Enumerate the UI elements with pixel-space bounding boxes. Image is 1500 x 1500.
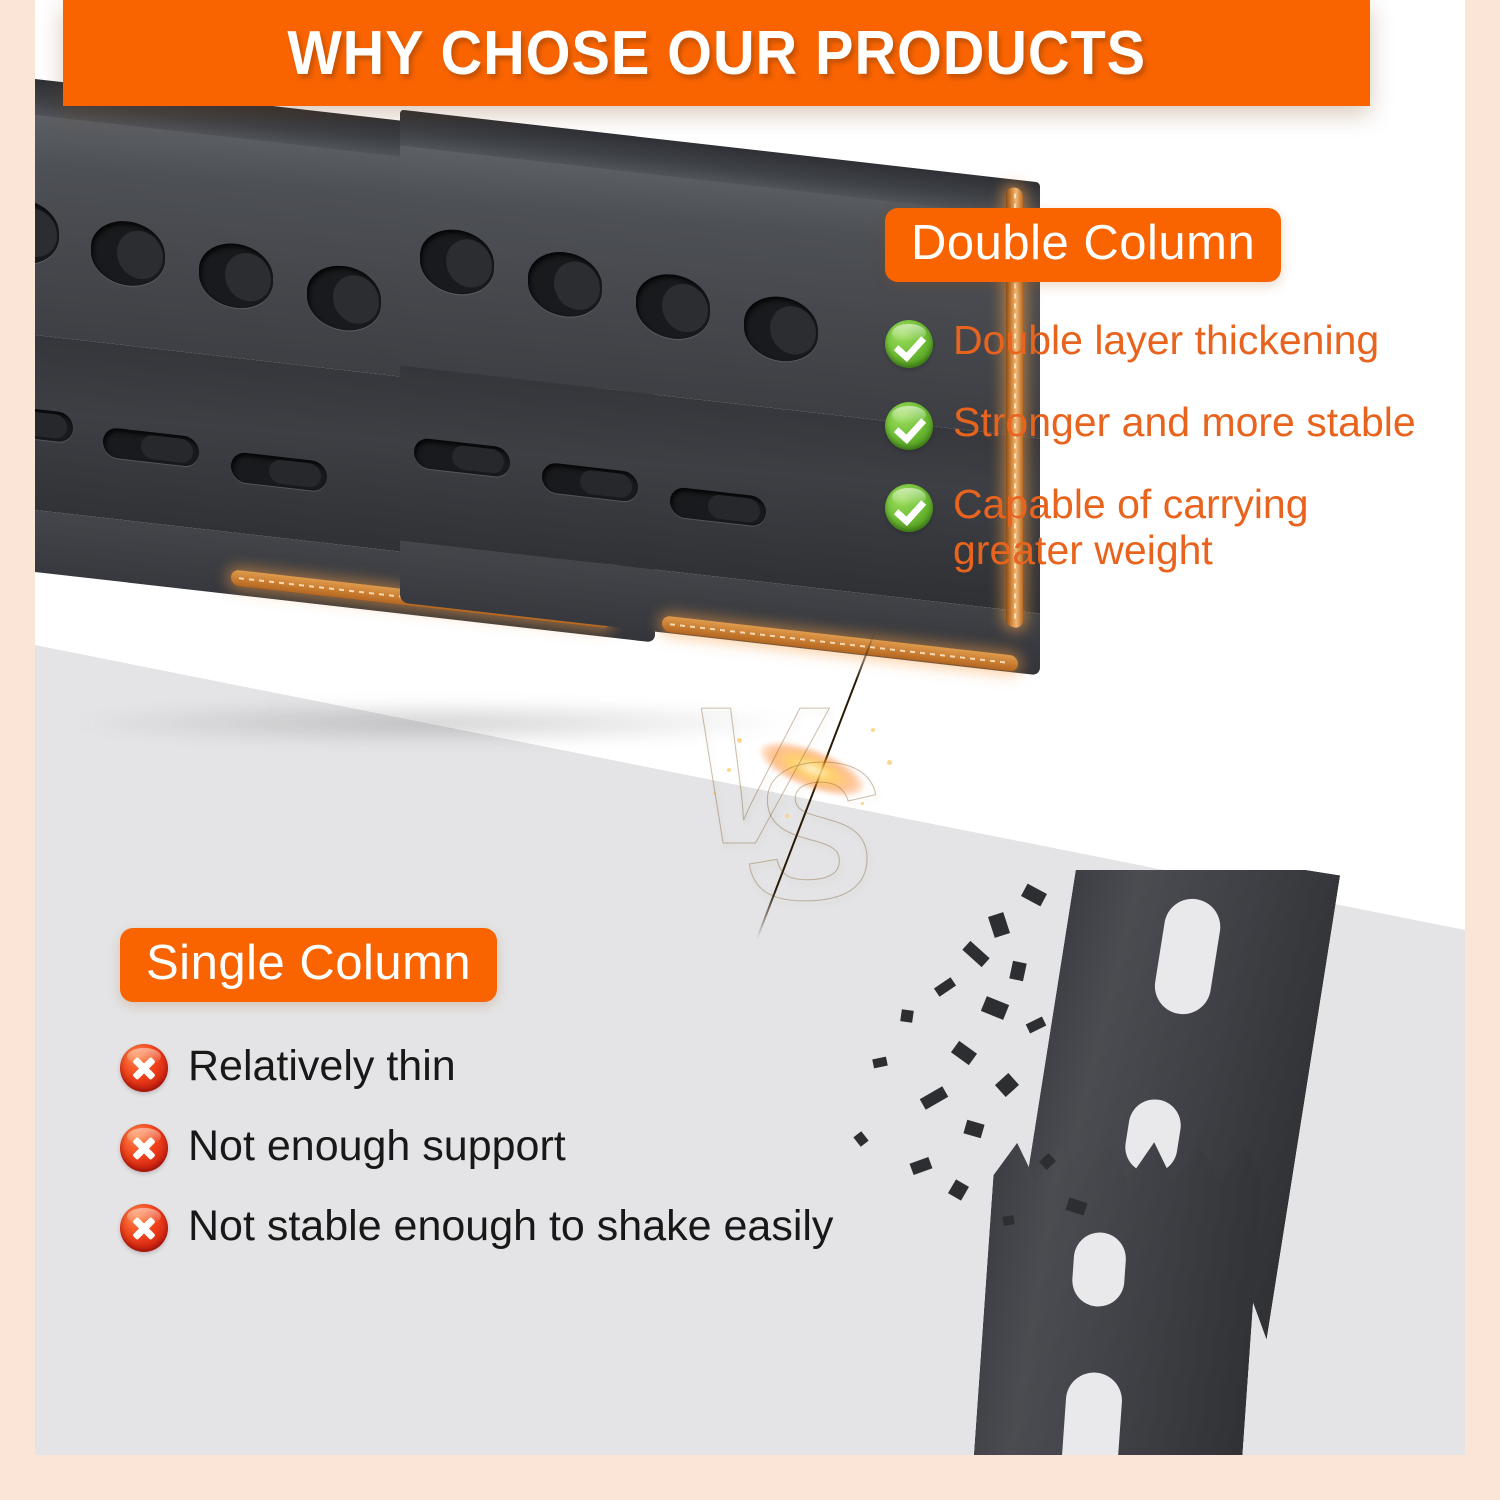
page-title: WHY CHOSE OUR PRODUCTS (287, 18, 1146, 89)
oval-slot (542, 462, 638, 503)
debris-fragment (988, 912, 1010, 938)
keyhole-slot (636, 270, 710, 342)
pros-bullet-list: Double layer thickening Stronger and mor… (885, 316, 1445, 574)
cons-bullet-list: Relatively thin Not enough support Not s… (120, 1040, 950, 1252)
single-column-panel: Single Column Relatively thin Not enough… (120, 928, 950, 1280)
keyhole-slot (35, 195, 59, 267)
debris-fragment (1026, 1017, 1047, 1034)
cross-circle-icon (120, 1204, 168, 1252)
list-item: Relatively thin (120, 1040, 950, 1092)
con-label: Relatively thin (188, 1040, 456, 1090)
debris-fragment (981, 996, 1009, 1020)
spark (887, 760, 892, 765)
list-item: Not stable enough to shake easily (120, 1200, 950, 1252)
list-item: Double layer thickening (885, 316, 1445, 368)
list-item: Not enough support (120, 1120, 950, 1172)
keyhole-slot (528, 248, 602, 320)
single-column-badge: Single Column (120, 928, 497, 1002)
page-title-banner: WHY CHOSE OUR PRODUCTS (63, 0, 1370, 106)
cross-circle-icon (120, 1124, 168, 1172)
check-circle-icon (885, 320, 933, 368)
oval-slot (35, 402, 73, 443)
keyhole-slot (420, 226, 494, 298)
infographic-canvas: Double Column Double layer thickening St… (35, 0, 1465, 1455)
debris-fragment (962, 941, 989, 967)
debris-fragment (995, 1073, 1019, 1097)
check-circle-icon (885, 484, 933, 532)
cross-circle-icon (120, 1044, 168, 1092)
double-column-panel: Double Column Double layer thickening St… (885, 208, 1445, 604)
oval-slot (414, 437, 510, 478)
debris-fragment (1002, 1215, 1014, 1225)
keyhole-slot (744, 293, 818, 365)
pro-label: Stronger and more stable (953, 398, 1416, 446)
double-column-badge: Double Column (885, 208, 1281, 282)
double-column-steel-beams-photo (35, 140, 870, 645)
debris-fragment (1021, 884, 1047, 907)
list-item: Stronger and more stable (885, 398, 1445, 450)
debris-fragment (948, 1179, 969, 1200)
debris-fragment (951, 1041, 977, 1065)
list-item: Capable of carrying greater weight (885, 480, 1445, 574)
keyhole-slot (1071, 1231, 1128, 1308)
oval-slot (103, 427, 199, 468)
keyhole-slot (1060, 1371, 1124, 1455)
keyhole-slot (91, 217, 165, 289)
pro-label: Double layer thickening (953, 316, 1379, 364)
debris-fragment (1009, 961, 1026, 982)
versus-graphic: V S (675, 660, 935, 900)
keyhole-slot (307, 262, 381, 334)
oval-slot (670, 486, 766, 527)
debris-fragment (963, 1120, 984, 1138)
con-label: Not enough support (188, 1120, 566, 1170)
con-label: Not stable enough to shake easily (188, 1200, 833, 1250)
keyhole-slot (1151, 895, 1224, 1018)
check-circle-icon (885, 402, 933, 450)
versus-letter-s: S (747, 734, 868, 930)
keyhole-slot (199, 240, 273, 312)
pro-label: Capable of carrying greater weight (953, 480, 1309, 574)
spark (871, 728, 875, 732)
oval-slot (231, 451, 327, 492)
